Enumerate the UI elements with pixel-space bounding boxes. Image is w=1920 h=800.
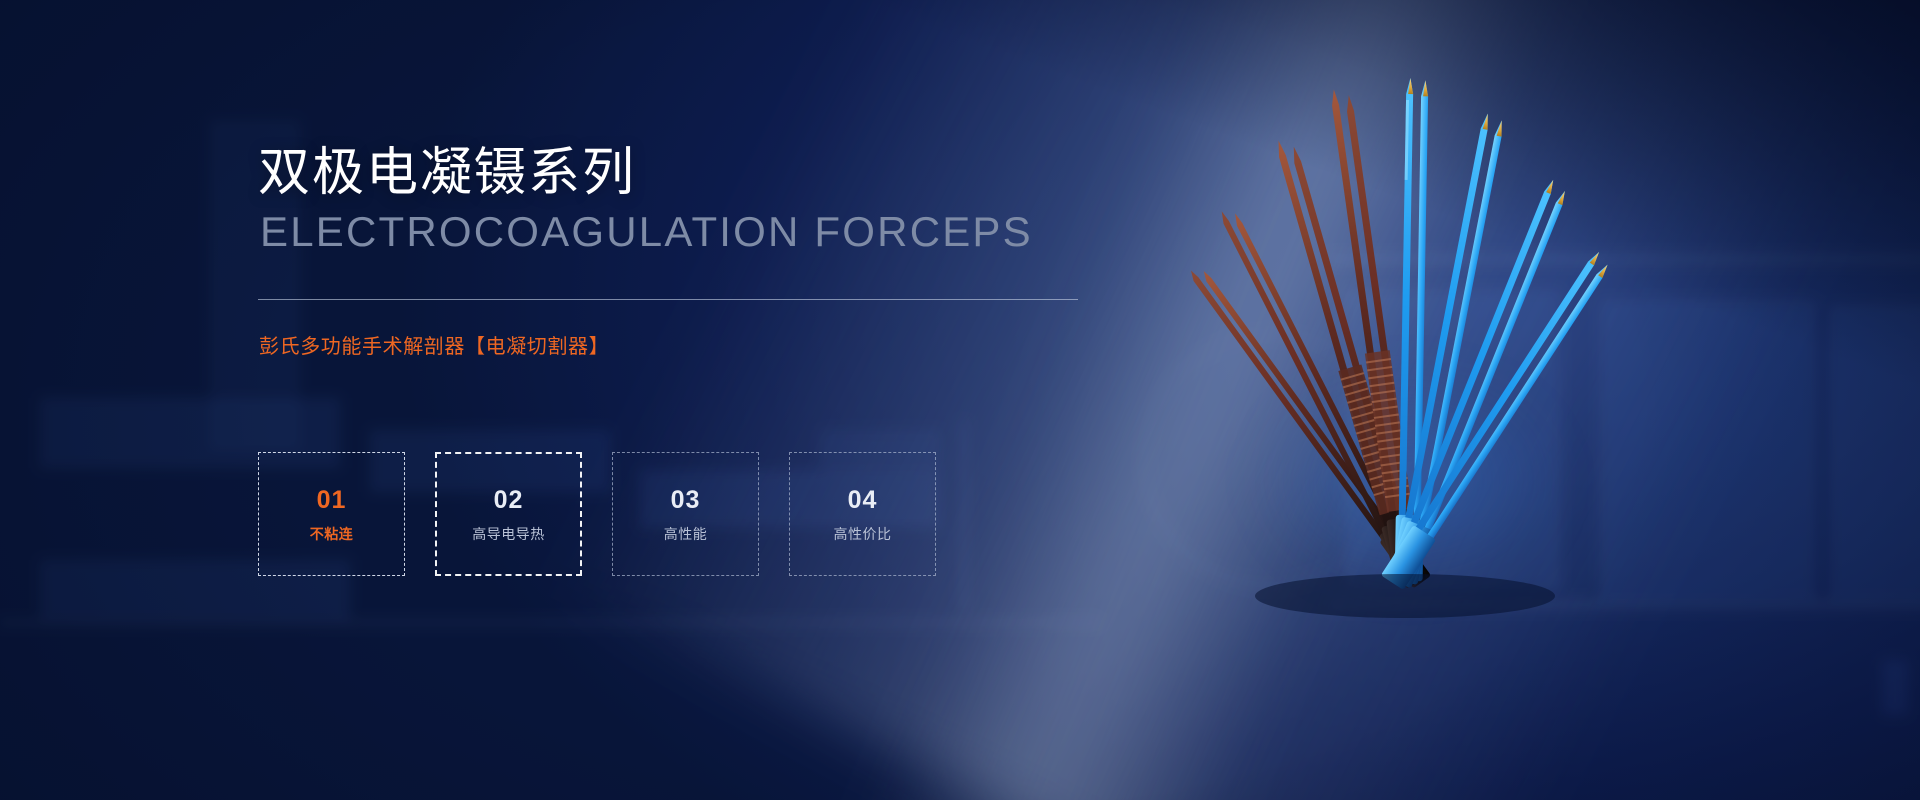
product-tagline: 彭氏多功能手术解剖器【电凝切割器】: [259, 337, 609, 357]
feature-item-01[interactable]: 01 不粘连: [258, 452, 405, 576]
feature-label: 高导电导热: [472, 527, 545, 541]
feature-label: 不粘连: [310, 527, 354, 541]
forceps-product-image: [1105, 60, 1665, 620]
feature-number: 01: [317, 488, 347, 513]
feature-item-04[interactable]: 04 高性价比: [789, 452, 936, 576]
feature-list: 01 不粘连 02 高导电导热 03 高性能 04 高性价比: [258, 452, 936, 576]
feature-item-03[interactable]: 03 高性能: [612, 452, 759, 576]
title-divider: [258, 299, 1078, 300]
banner-content: 双极电凝镊系列 ELECTROCOAGULATION FORCEPS 彭氏多功能…: [258, 0, 958, 800]
product-banner: 双极电凝镊系列 ELECTROCOAGULATION FORCEPS 彭氏多功能…: [0, 0, 1920, 800]
feature-label: 高性能: [664, 527, 708, 541]
feature-number: 04: [848, 488, 878, 513]
feature-item-02[interactable]: 02 高导电导热: [435, 452, 582, 576]
feature-number: 02: [494, 488, 524, 513]
page-title: 双极电凝镊系列: [258, 147, 636, 199]
page-subtitle-english: ELECTROCOAGULATION FORCEPS: [260, 211, 1033, 253]
feature-number: 03: [671, 488, 701, 513]
feature-label: 高性价比: [834, 527, 892, 541]
